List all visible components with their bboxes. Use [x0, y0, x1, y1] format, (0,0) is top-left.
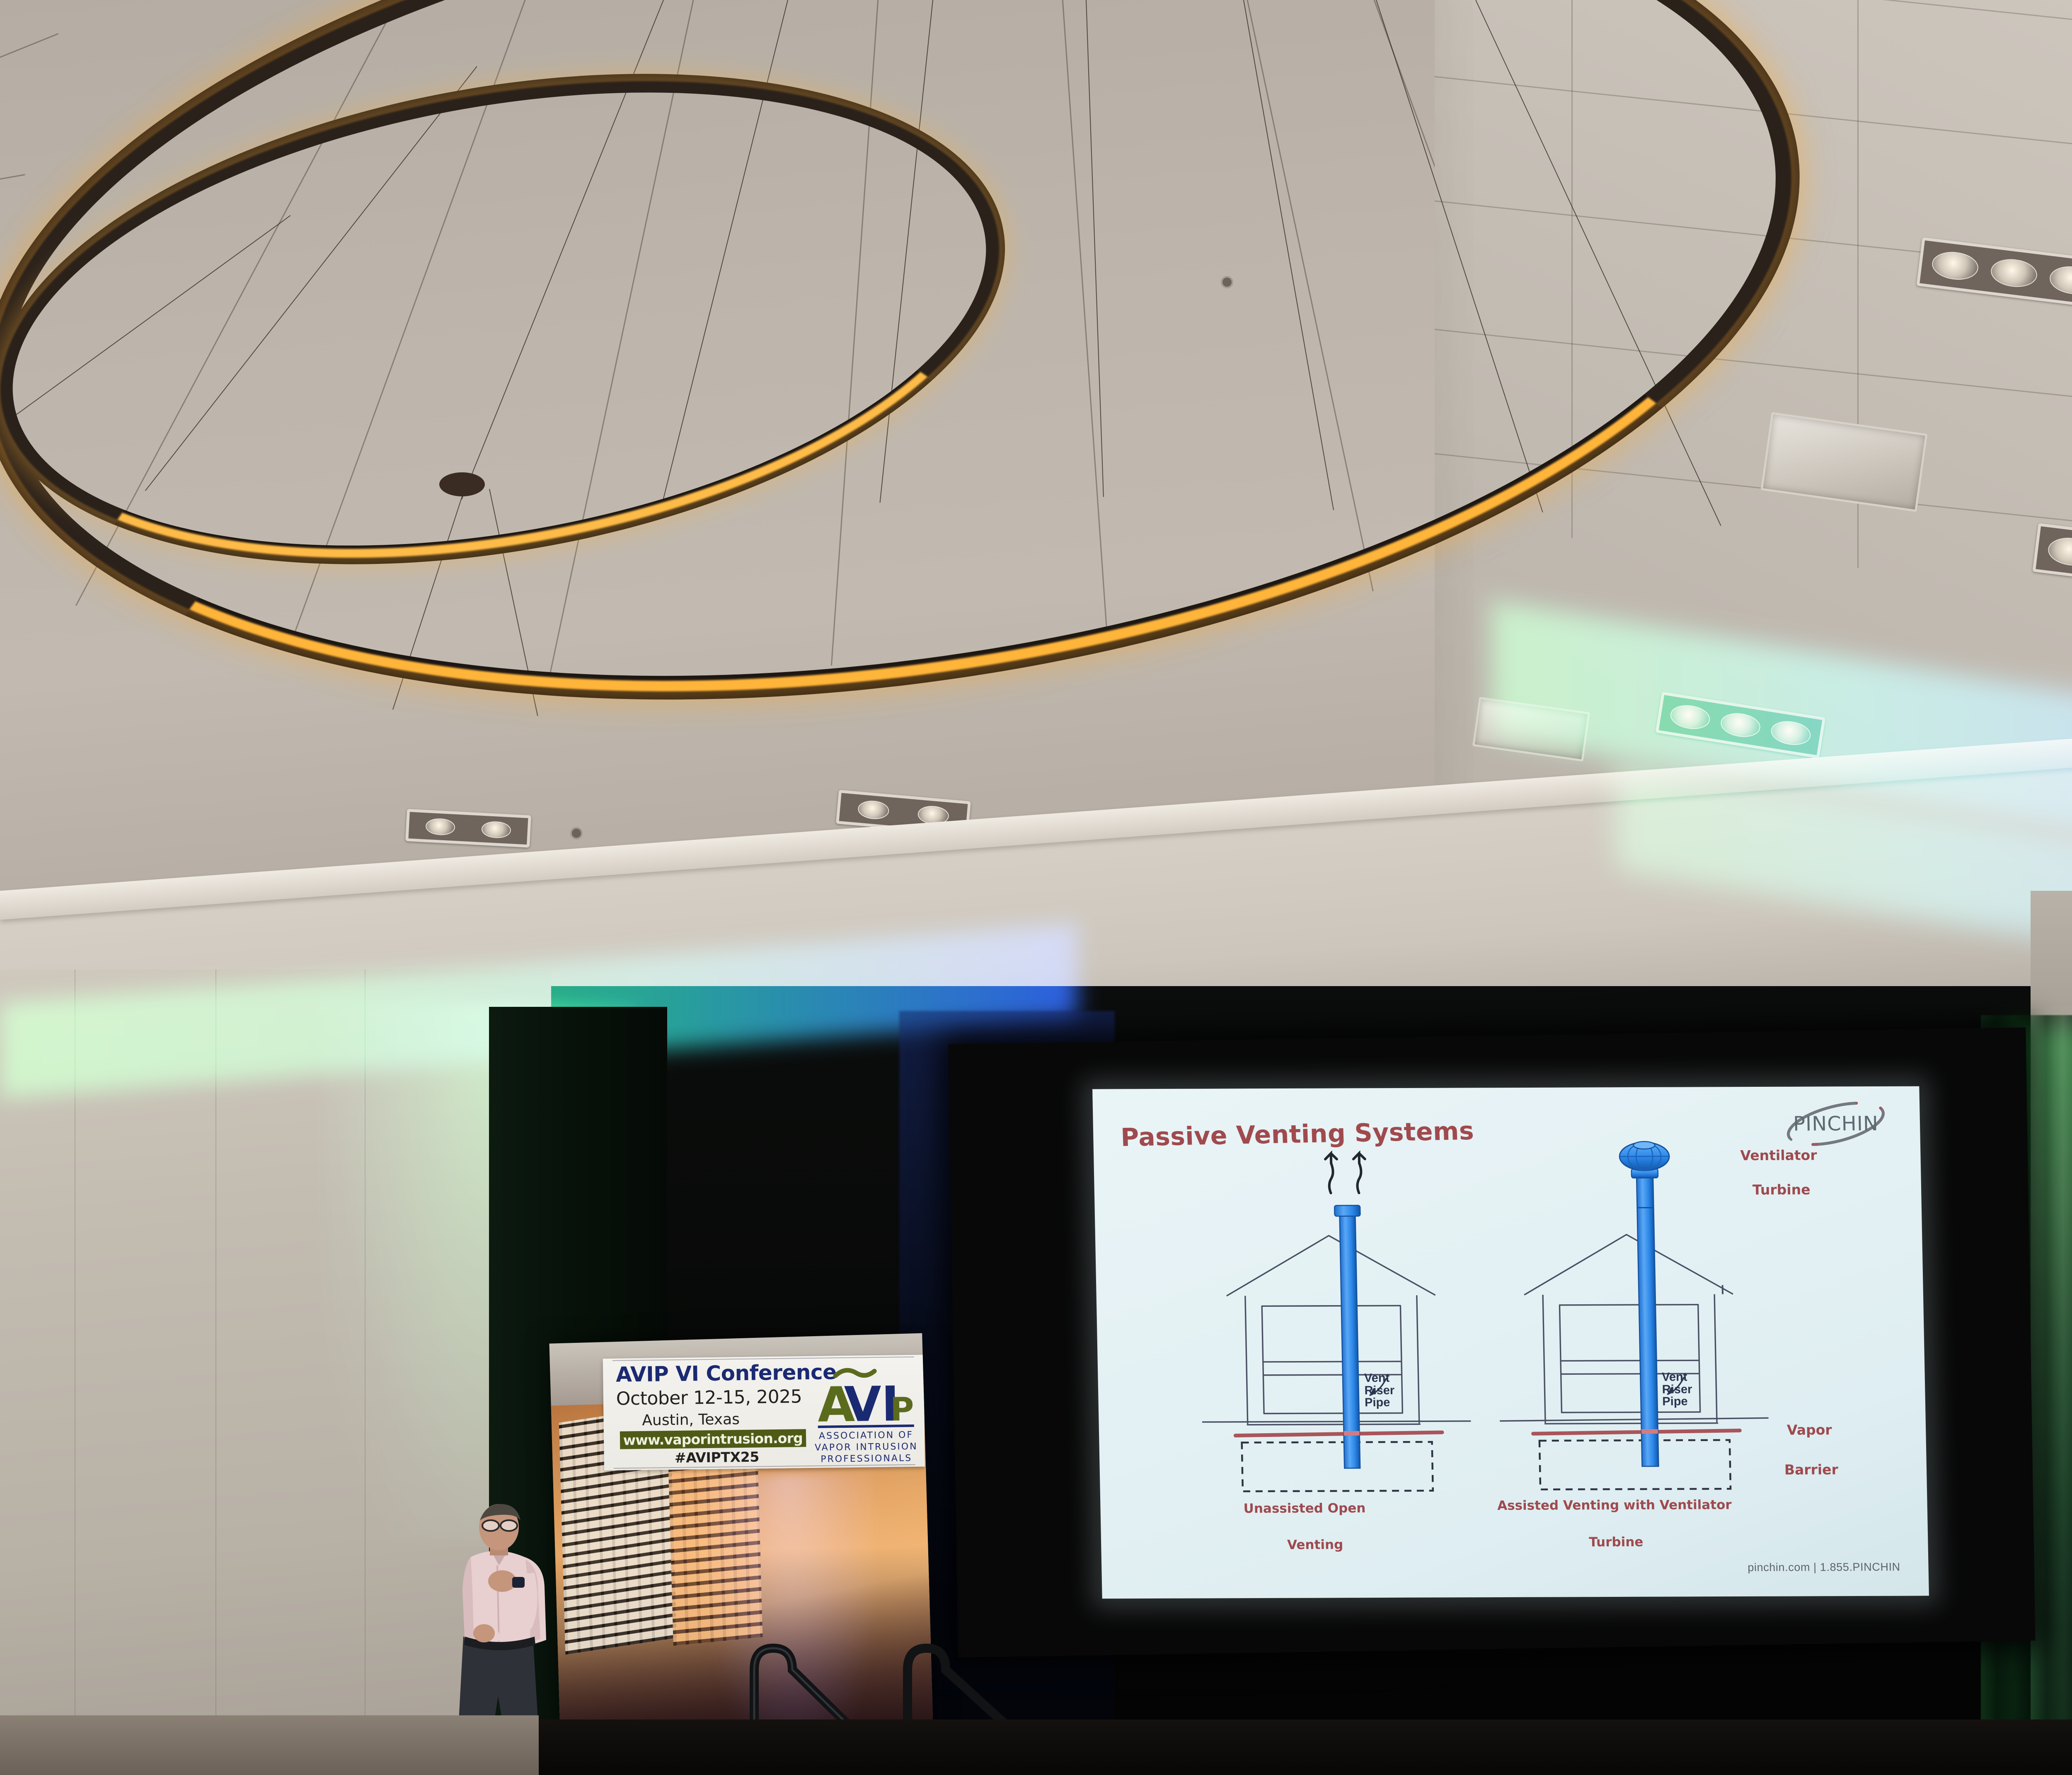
- caption-left-line1: Unassisted Open: [1243, 1501, 1365, 1516]
- caption-right-line2: Turbine: [1589, 1535, 1644, 1550]
- wristwatch-icon: [512, 1577, 525, 1588]
- banner-url: www.vaporintrusion.org: [620, 1429, 806, 1449]
- banner-header-panel: AVIP VI Conference October 12-15, 2025 A…: [603, 1355, 925, 1470]
- vrp-line3: Pipe: [1365, 1397, 1395, 1409]
- banner-hashtag: #AVIPTX25: [675, 1449, 760, 1466]
- projection-screen[interactable]: Passive Venting Systems PINCHIN: [1092, 1086, 1929, 1599]
- label-ventilator: Ventilator: [1740, 1147, 1817, 1164]
- lamp-bulb: [1989, 256, 2038, 290]
- recessed-downlight-fixture: [405, 809, 531, 848]
- label-vapor: Vapor: [1787, 1422, 1832, 1438]
- lamp-bulb: [425, 817, 455, 836]
- vrp-line3: Pipe: [1662, 1396, 1692, 1408]
- presentation-slide: Passive Venting Systems PINCHIN: [1092, 1086, 1929, 1599]
- caption-left-line2: Venting: [1287, 1537, 1343, 1552]
- avip-logo: A VI P ASSOCIATION OF VAPOR INTRUSION PR…: [813, 1358, 918, 1463]
- banner-title: AVIP VI Conference: [616, 1360, 837, 1387]
- label-vent-riser-pipe-left: Vent Riser Pipe: [1364, 1372, 1395, 1409]
- banner-city: Austin, Texas: [642, 1411, 740, 1429]
- lamp-bulb: [481, 820, 511, 839]
- avip-sub-line1: ASSOCIATION OF: [818, 1430, 913, 1441]
- svg-text:P: P: [890, 1391, 914, 1429]
- avip-sub-line3: PROFESSIONALS: [821, 1453, 912, 1463]
- vrp-line1: Vent: [1364, 1372, 1394, 1385]
- label-barrier: Barrier: [1784, 1461, 1839, 1478]
- floor-foreground-left: [0, 1715, 539, 1775]
- vrp-line2: Riser: [1662, 1383, 1692, 1396]
- lamp-bulb: [1930, 249, 1980, 283]
- banner-date: October 12-15, 2025: [616, 1386, 802, 1409]
- smoke-detector-icon: [572, 829, 581, 838]
- lamp-bulb: [857, 800, 890, 820]
- photo-scene: Passive Venting Systems PINCHIN: [0, 0, 2072, 1775]
- avip-sub-line2: VAPOR INTRUSION: [814, 1441, 917, 1453]
- label-turbine: Turbine: [1752, 1181, 1811, 1197]
- lamp-bulb: [2046, 535, 2072, 568]
- vrp-line1: Vent: [1662, 1371, 1692, 1384]
- caption-right-line1: Assisted Venting with Ventilator: [1497, 1497, 1732, 1513]
- slide-footer: pinchin.com | 1.855.PINCHIN: [1748, 1561, 1900, 1574]
- chandelier-hub: [439, 472, 485, 496]
- label-vent-riser-pipe-right: Vent Riser Pipe: [1662, 1371, 1692, 1408]
- vrp-line2: Riser: [1364, 1385, 1394, 1397]
- lamp-bulb: [2048, 264, 2072, 297]
